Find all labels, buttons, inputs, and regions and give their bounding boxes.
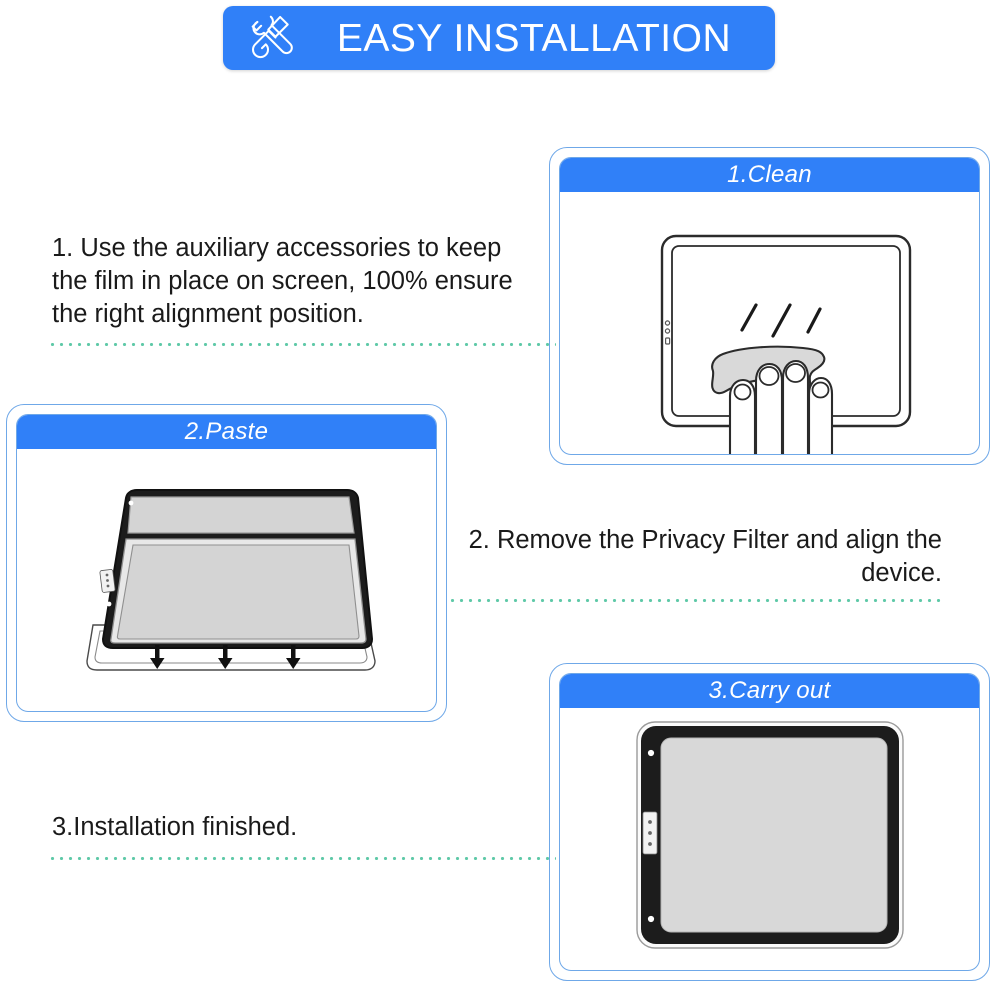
panel-clean-inner: 1.Clean — [559, 157, 980, 455]
panel-paste: 2.Paste — [6, 404, 447, 722]
step-text-2: 2. Remove the Privacy Filter and align t… — [460, 524, 942, 590]
panel-clean-header: 1.Clean — [560, 158, 979, 192]
panel-clean-title: 1.Clean — [727, 163, 812, 187]
hand-wiping-tablet-illustration — [570, 188, 970, 455]
panel-clean: 1.Clean — [549, 147, 990, 465]
panel-carry-out-inner: 3.Carry out — [559, 673, 980, 971]
step-text-1: 1. Use the auxiliary accessories to keep… — [52, 232, 537, 331]
connector-line-3 — [48, 857, 556, 860]
step-text-3: 3.Installation finished. — [52, 811, 537, 844]
panel-paste-header: 2.Paste — [17, 415, 436, 449]
panel-carry-out-header: 3.Carry out — [560, 674, 979, 708]
finished-tablet-illustration — [625, 714, 915, 964]
panel-paste-title: 2.Paste — [185, 420, 269, 444]
wrench-screwdriver-icon — [243, 11, 297, 65]
panel-paste-body — [17, 449, 436, 711]
easy-installation-banner: EASY INSTALLATION — [223, 6, 775, 70]
panel-paste-inner: 2.Paste — [16, 414, 437, 712]
panel-carry-out: 3.Carry out — [549, 663, 990, 981]
connector-line-1 — [48, 343, 556, 346]
film-paste-tablet-illustration — [27, 449, 427, 711]
panel-carry-out-title: 3.Carry out — [708, 679, 830, 703]
panel-carry-out-body — [560, 708, 979, 970]
panel-clean-body — [560, 192, 979, 454]
connector-line-2 — [448, 599, 945, 602]
banner-title: EASY INSTALLATION — [303, 19, 775, 58]
